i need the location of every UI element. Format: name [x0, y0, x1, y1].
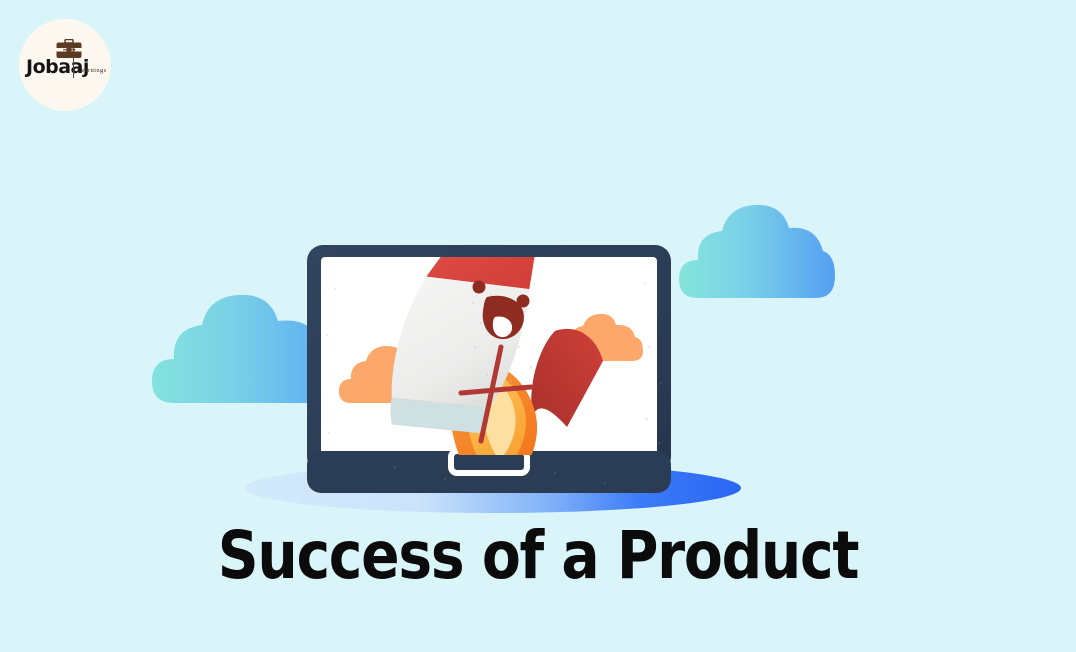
background-cloud-right — [676, 196, 838, 298]
logo-subtitle: Learnings — [77, 68, 107, 75]
laptop-with-rocket-illustration — [305, 243, 673, 493]
logo-divider — [73, 56, 74, 78]
page-title: Success of a Product — [75, 521, 1000, 590]
rocket-eye-left — [473, 281, 486, 294]
logo-badge[interactable]: Jobaaj Learnings — [19, 19, 111, 111]
banner-root: Jobaaj Learnings — [0, 0, 1076, 652]
logo-inner: Jobaaj Learnings — [26, 41, 104, 89]
laptop-base — [307, 451, 671, 493]
